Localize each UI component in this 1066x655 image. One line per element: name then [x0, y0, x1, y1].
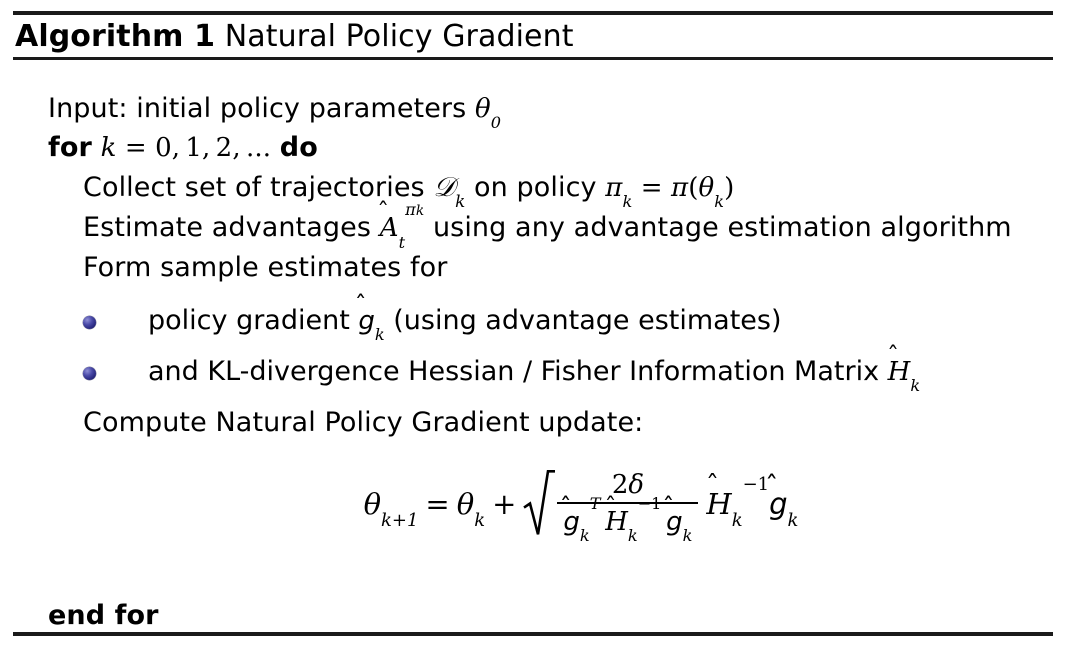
hrule-under-title	[13, 57, 1053, 60]
eq-fraction: 2δ ĝkT Ĥk−1 ĝk	[553, 470, 702, 537]
line-for: for k = 0, 1, 2, ... do	[48, 132, 318, 164]
math-g-hat-k: ĝk	[358, 306, 384, 336]
keyword-do: do	[280, 132, 318, 163]
post-g-hat-k: ĝk	[769, 487, 798, 521]
ball-bullet-icon	[83, 367, 96, 380]
line-estimate-seg1: Estimate advantages	[83, 212, 380, 243]
eq-relation: =	[418, 487, 456, 521]
math-calD-k: 𝒟k	[433, 172, 465, 203]
eq-term1-theta-k: θk	[457, 487, 485, 521]
algorithm-title-name: Natural Policy Gradient	[225, 19, 574, 54]
algorithm-title-keyword: Algorithm 1	[15, 19, 215, 54]
line-compute-update: Compute Natural Policy Gradient update:	[83, 407, 643, 439]
eq-fraction-denominator: ĝkT Ĥk−1 ĝk	[557, 502, 698, 537]
math-A-hat-t-pik: Âtπk	[380, 213, 425, 243]
ball-bullet-icon	[83, 316, 96, 329]
title-space	[215, 19, 225, 54]
algorithm-title: Algorithm 1 Natural Policy Gradient	[15, 19, 574, 55]
line-estimate-seg2: using any advantage estimation algorithm	[424, 212, 1011, 243]
radical-sign-icon	[523, 470, 555, 537]
algorithm-block: Algorithm 1 Natural Policy Gradient Inpu…	[0, 0, 1066, 655]
math-pi-k: πk	[605, 173, 632, 203]
line-end-for: end for	[48, 600, 159, 632]
line-form-sample: Form sample estimates for	[83, 252, 447, 284]
math-equals: =	[632, 173, 671, 203]
math-for-range: k = 0, 1, 2, ...	[101, 133, 271, 163]
eq-lhs-theta-k-plus-1: θk+1	[364, 487, 419, 521]
line-estimate: Estimate advantages Âtπk using any adva…	[83, 212, 1012, 244]
den-g-hat-k-T: ĝkT	[563, 507, 600, 537]
post-H-hat-k-inv: Ĥk−1	[706, 487, 769, 521]
eq-fraction-numerator: 2δ	[557, 470, 698, 502]
hrule-bottom	[13, 632, 1053, 636]
line-collect-seg1: Collect set of trajectories	[83, 172, 433, 203]
eq-postfactors: Ĥk−1ĝk	[702, 487, 798, 521]
eq-operator-plus: +	[485, 487, 523, 521]
sp2	[271, 132, 280, 163]
sp1	[92, 132, 101, 163]
hrule-top	[13, 11, 1053, 15]
bullet-fisher-information-text: and KL-divergence Hessian / Fisher Infor…	[148, 356, 920, 388]
line-input-text: Input: initial policy parameters	[48, 93, 475, 124]
line-input: Input: initial policy parameters θ0	[48, 93, 501, 125]
eq-square-root: 2δ ĝkT Ĥk−1 ĝk	[523, 470, 702, 537]
equation-npg-update: θk+1=θk+ 2δ ĝkT Ĥk−1 ĝk Ĥk−1ĝk	[0, 470, 1066, 537]
math-theta-zero: θ0	[475, 94, 501, 124]
line-collect-seg2: on policy	[465, 172, 605, 203]
den-g-hat-k: ĝk	[666, 507, 692, 537]
math-H-hat-k: Ĥk	[888, 357, 920, 387]
bullet-policy-gradient-text: policy gradient ĝk (using advantage est…	[148, 305, 782, 337]
den-H-hat-k-inv: Ĥk−1	[605, 507, 661, 537]
keyword-for: for	[48, 132, 92, 163]
math-pi-theta-k: π(θk)	[671, 173, 734, 203]
equation-inner: θk+1=θk+ 2δ ĝkT Ĥk−1 ĝk Ĥk−1ĝk	[364, 470, 799, 537]
